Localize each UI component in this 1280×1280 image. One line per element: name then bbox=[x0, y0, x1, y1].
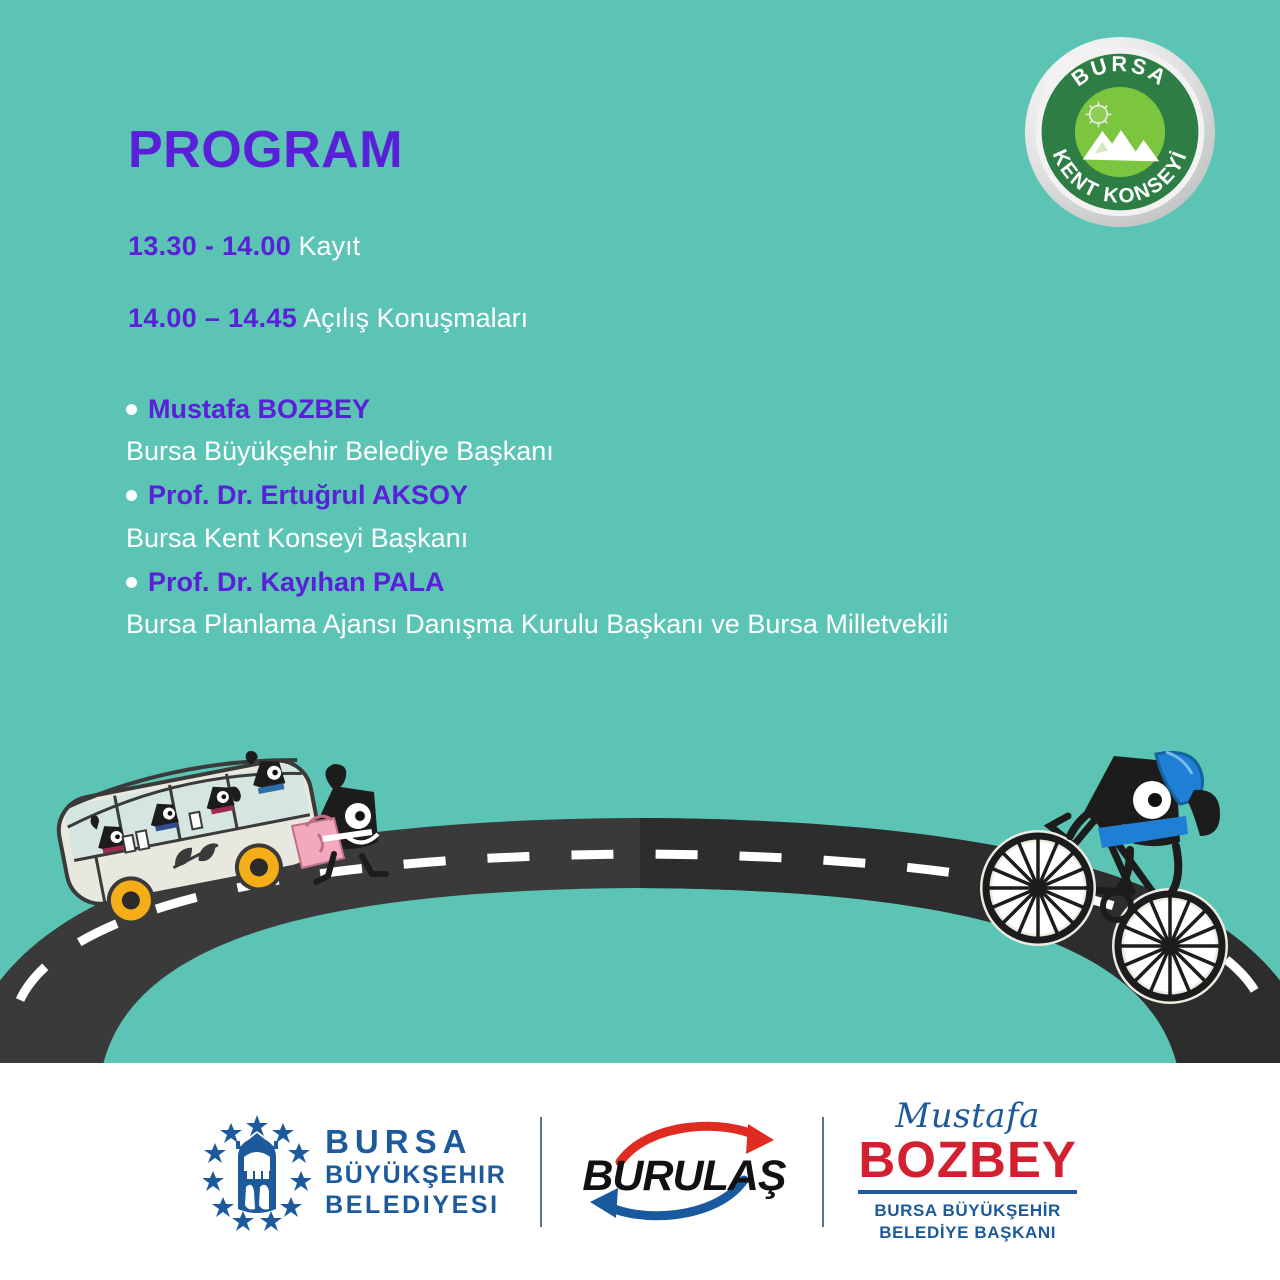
speaker-role: Bursa Kent Konseyi Başkanı bbox=[126, 523, 1236, 553]
list-item: Mustafa BOZBEY bbox=[126, 394, 1236, 424]
schedule-row: 13.30 - 14.00 Kayıt bbox=[128, 232, 360, 262]
bozbey-rule bbox=[858, 1190, 1077, 1194]
speaker-list: Mustafa BOZBEY Bursa Büyükşehir Belediye… bbox=[126, 392, 1236, 653]
speaker-role: Bursa Büyükşehir Belediye Başkanı bbox=[126, 436, 1236, 466]
footer-divider bbox=[822, 1117, 824, 1227]
footer-logo-bar: BURSA BÜYÜKŞEHIR BELEDIYESI BURULAŞ bbox=[0, 1063, 1280, 1280]
speaker-name: Mustafa BOZBEY bbox=[148, 394, 370, 424]
speaker-name: Prof. Dr. Ertuğrul AKSOY bbox=[148, 480, 468, 510]
burulas-logo: BURULAŞ bbox=[542, 1097, 822, 1247]
mustafa-bozbey-logo: Mustafa BOZBEY BURSA BÜYÜKŞEHİR BELEDİYE… bbox=[824, 1097, 1111, 1247]
schedule-time: 14.00 – 14.45 bbox=[128, 303, 297, 333]
bozbey-script-name: Mustafa bbox=[858, 1099, 1077, 1133]
teal-background-panel: PROGRAM 13.30 - 14.00 Kayıt 14.00 – 14.4… bbox=[0, 0, 1280, 1063]
bursa-belediyesi-logo: BURSA BÜYÜKŞEHIR BELEDIYESI bbox=[169, 1097, 540, 1247]
bursa-crest-icon bbox=[203, 1113, 311, 1231]
bursa-kent-konseyi-logo: BURSA KENT KONSEYİ bbox=[1022, 34, 1218, 230]
list-item: Prof. Dr. Ertuğrul AKSOY bbox=[126, 480, 1236, 510]
bozbey-sub-line-2: BELEDİYE BAŞKANI bbox=[858, 1222, 1077, 1244]
pink-bag-icon bbox=[292, 816, 344, 868]
belediyesi-line-2: BÜYÜKŞEHIR bbox=[325, 1163, 506, 1188]
belediyesi-line-1: BURSA bbox=[325, 1125, 506, 1158]
burulas-wordmark: BURULAŞ bbox=[582, 1152, 785, 1201]
bullet-icon bbox=[126, 490, 137, 501]
schedule-desc: Kayıt bbox=[299, 231, 361, 261]
bullet-icon bbox=[126, 577, 137, 588]
speaker-name: Prof. Dr. Kayıhan PALA bbox=[148, 567, 445, 597]
poster-root: PROGRAM 13.30 - 14.00 Kayıt 14.00 – 14.4… bbox=[0, 0, 1280, 1280]
footer-divider bbox=[540, 1117, 542, 1227]
belediyesi-line-3: BELEDIYESI bbox=[325, 1193, 506, 1218]
page-title: PROGRAM bbox=[128, 124, 403, 176]
schedule-desc: Açılış Konuşmaları bbox=[303, 303, 528, 333]
schedule-row: 14.00 – 14.45 Açılış Konuşmaları bbox=[128, 304, 528, 334]
schedule-time: 13.30 - 14.00 bbox=[128, 231, 291, 261]
illustration-scene bbox=[0, 700, 1280, 1063]
bozbey-sub-line-1: BURSA BÜYÜKŞEHİR bbox=[858, 1200, 1077, 1222]
bozbey-surname: BOZBEY bbox=[858, 1135, 1077, 1185]
list-item: Prof. Dr. Kayıhan PALA bbox=[126, 567, 1236, 597]
speaker-role: Bursa Planlama Ajansı Danışma Kurulu Baş… bbox=[126, 609, 1236, 639]
bullet-icon bbox=[126, 404, 137, 415]
